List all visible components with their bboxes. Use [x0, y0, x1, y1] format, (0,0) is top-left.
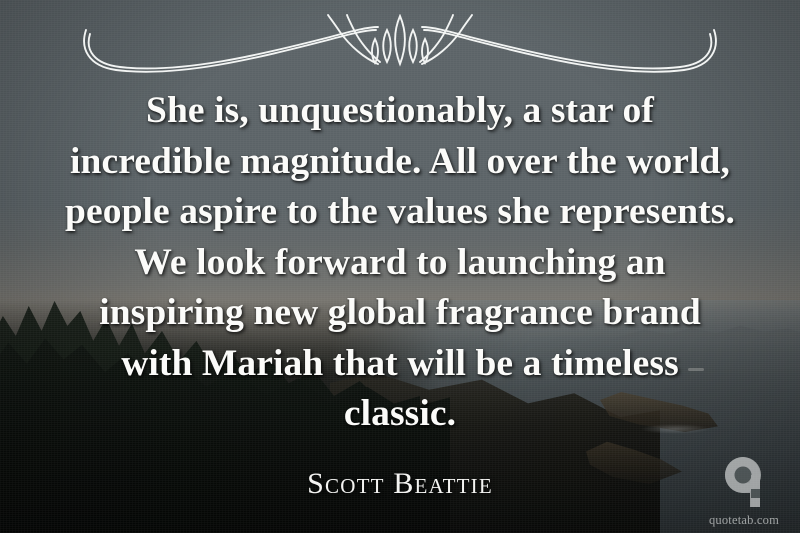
- quote-author: Scott Beattie: [0, 466, 800, 502]
- quotetab-q-logo-icon: [696, 453, 792, 512]
- quote-card: She is, unquestionably, a star of incred…: [0, 0, 800, 533]
- flourish-divider-ornament: [78, 14, 722, 76]
- quote-text: She is, unquestionably, a star of incred…: [62, 86, 738, 440]
- watermark-site-label: quotetab.com: [696, 513, 792, 527]
- watermark[interactable]: quotetab.com: [696, 453, 792, 527]
